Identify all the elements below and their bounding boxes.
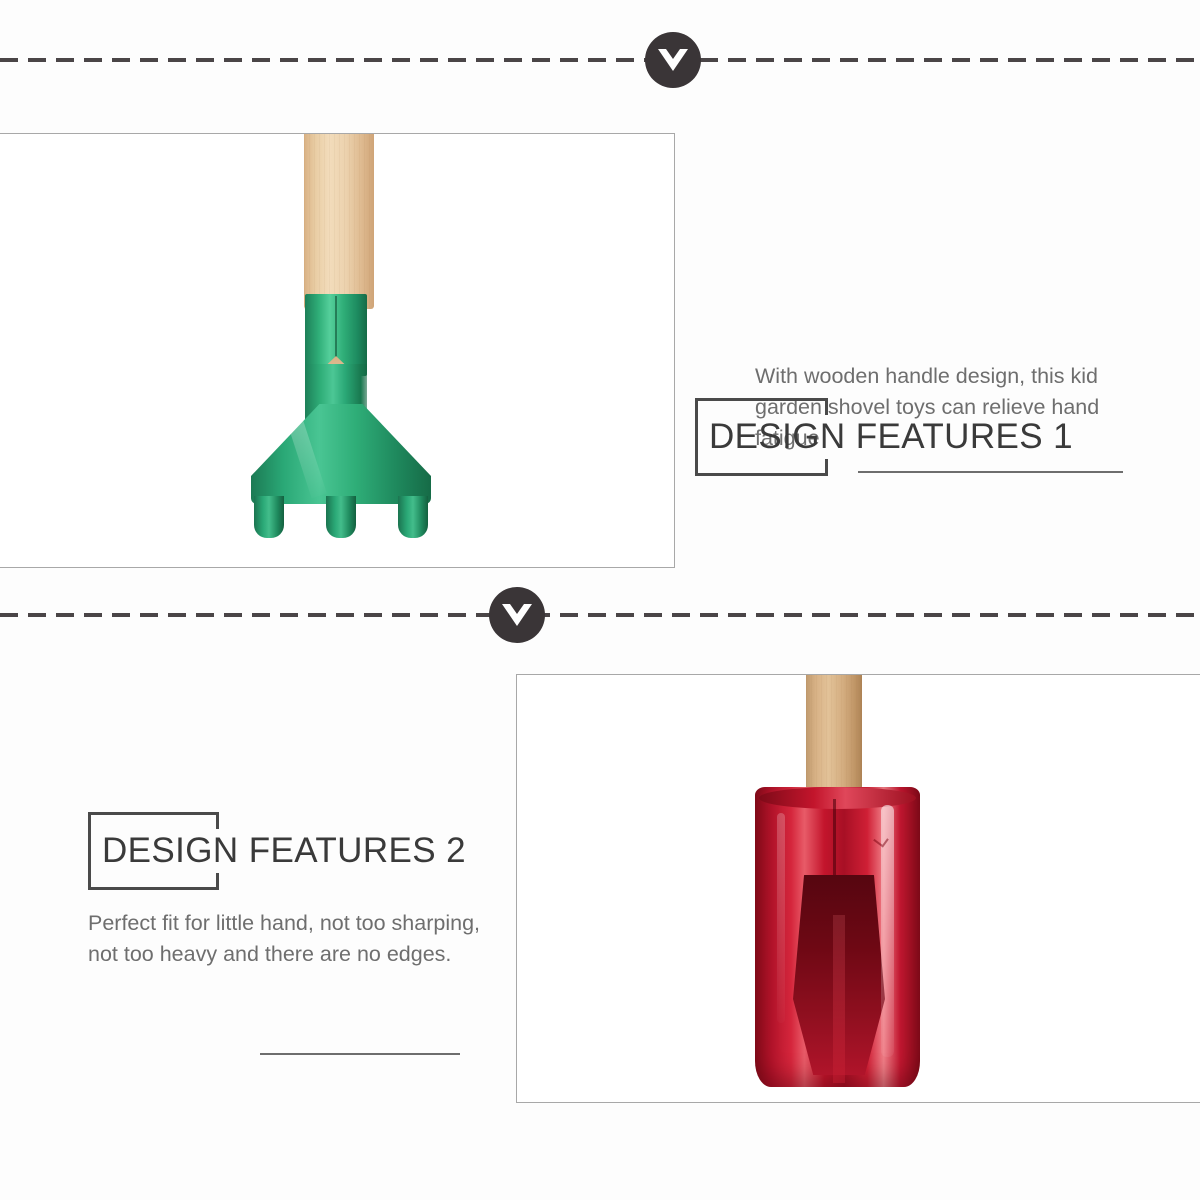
feature-title-frame-1: DESIGN FEATURES 1 [695, 398, 1200, 476]
rake-head-plate [251, 404, 431, 504]
dashed-divider-top [0, 58, 1200, 62]
feature-body-2: Perfect fit for little hand, not too sha… [88, 908, 488, 970]
title-frame-bottom-right-stub [825, 459, 828, 476]
shovel-scoop-ridge [833, 915, 845, 1083]
feature-title-2: DESIGN FEATURES 2 [102, 831, 466, 871]
product-photo-frame-1 [0, 133, 675, 568]
title-frame-bottom-edge [695, 473, 825, 476]
green-rake-head [251, 294, 431, 544]
title-frame-left-edge [88, 812, 91, 890]
infographic-canvas: DESIGN FEATURES 1 With wooden handle des… [0, 0, 1200, 1200]
title-frame-top-right-stub [825, 398, 828, 415]
shovel-highlight-left [777, 813, 785, 1023]
wooden-handle-shovel [806, 674, 862, 799]
title-frame-left-edge [695, 398, 698, 476]
product-photo-frame-2 [516, 674, 1200, 1103]
title-frame-top-right-stub [216, 812, 219, 829]
rake-prong-center [326, 496, 356, 538]
shovel-top-rim [759, 787, 916, 809]
chevron-down-icon [502, 604, 532, 626]
red-shovel-head [755, 787, 920, 1087]
feature-rule-2 [260, 1053, 460, 1055]
dashed-divider-middle [0, 613, 1200, 617]
feature-title-frame-2: DESIGN FEATURES 2 [88, 812, 488, 890]
rake-prong-left [254, 496, 284, 538]
title-frame-top-edge [88, 812, 216, 815]
feature-text-block-2: DESIGN FEATURES 2 Perfect fit for little… [88, 812, 488, 992]
rake-collar-seam [335, 296, 337, 358]
wooden-handle-rake [304, 134, 374, 309]
chevron-down-badge-middle [489, 587, 545, 643]
feature-rule-1 [858, 471, 1123, 473]
title-frame-top-edge [695, 398, 825, 401]
feature-title-1: DESIGN FEATURES 1 [709, 417, 1073, 457]
rake-prong-right [398, 496, 428, 538]
chevron-down-badge-top [645, 32, 701, 88]
title-frame-bottom-edge [88, 887, 216, 890]
title-frame-bottom-right-stub [216, 873, 219, 890]
feature-text-block-1: DESIGN FEATURES 1 With wooden handle des… [755, 265, 1155, 476]
chevron-down-icon [658, 49, 688, 71]
